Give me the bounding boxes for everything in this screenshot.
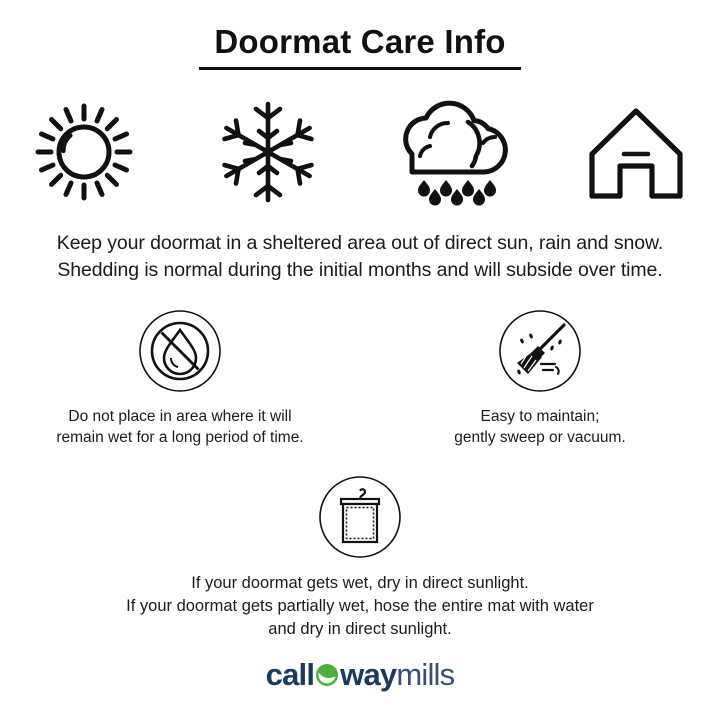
middle-section: Do not place in area where it will remai… [0, 308, 720, 448]
no-water-icon [137, 308, 223, 394]
green-circle-swoosh-icon [315, 663, 339, 687]
hanging-mat-icon [317, 474, 403, 560]
broom-caption: Easy to maintain; gently sweep or vacuum… [454, 406, 625, 448]
logo-primary-part-2: way [340, 657, 396, 693]
intro-paragraph: Keep your doormat in a sheltered area ou… [0, 230, 720, 284]
rain-cloud-icon-cell [382, 96, 522, 208]
drying-caption-line-2: If your doormat gets partially wet, hose… [126, 595, 594, 618]
intro-line-1: Keep your doormat in a sheltered area ou… [0, 230, 720, 257]
title-block: Doormat Care Info [0, 22, 720, 70]
rain-cloud-icon [388, 96, 516, 208]
broom-column: Easy to maintain; gently sweep or vacuum… [360, 308, 720, 448]
drying-caption: If your doormat gets wet, dry in direct … [126, 572, 594, 641]
hanging-mat-icon-cell [317, 474, 403, 560]
broom-caption-line-1: Easy to maintain; [454, 406, 625, 427]
logo-primary-text: call way [266, 657, 397, 693]
title-underline [199, 67, 521, 70]
broom-icon-cell [497, 308, 583, 394]
brand-logo: call way mills [0, 657, 720, 693]
broom-icon [497, 308, 583, 394]
drying-section: If your doormat gets wet, dry in direct … [0, 474, 720, 641]
sun-icon [28, 96, 140, 208]
no-water-icon-cell [137, 308, 223, 394]
intro-line-2: Shedding is normal during the initial mo… [0, 257, 720, 284]
no-water-caption-line-1: Do not place in area where it will [56, 406, 303, 427]
snowflake-icon [212, 96, 324, 208]
logo-secondary-text: mills [396, 657, 454, 693]
drying-caption-line-1: If your doormat gets wet, dry in direct … [126, 572, 594, 595]
snowflake-icon-cell [198, 96, 338, 208]
no-water-column: Do not place in area where it will remai… [0, 308, 360, 448]
logo-wordmark: call way mills [266, 657, 455, 693]
logo-primary-part-1: call [266, 657, 315, 693]
drying-caption-line-3: and dry in direct sunlight. [126, 618, 594, 641]
no-water-caption: Do not place in area where it will remai… [56, 406, 303, 448]
no-water-caption-line-2: remain wet for a long period of time. [56, 427, 303, 448]
house-icon-cell [566, 96, 706, 208]
sun-icon-cell [14, 96, 154, 208]
doormat-care-info-page: Doormat Care Info [0, 0, 720, 720]
weather-icon-row [0, 96, 720, 208]
house-icon [580, 96, 692, 208]
logo-green-o-icon [315, 659, 339, 683]
page-title: Doormat Care Info [0, 22, 720, 62]
broom-caption-line-2: gently sweep or vacuum. [454, 427, 625, 448]
